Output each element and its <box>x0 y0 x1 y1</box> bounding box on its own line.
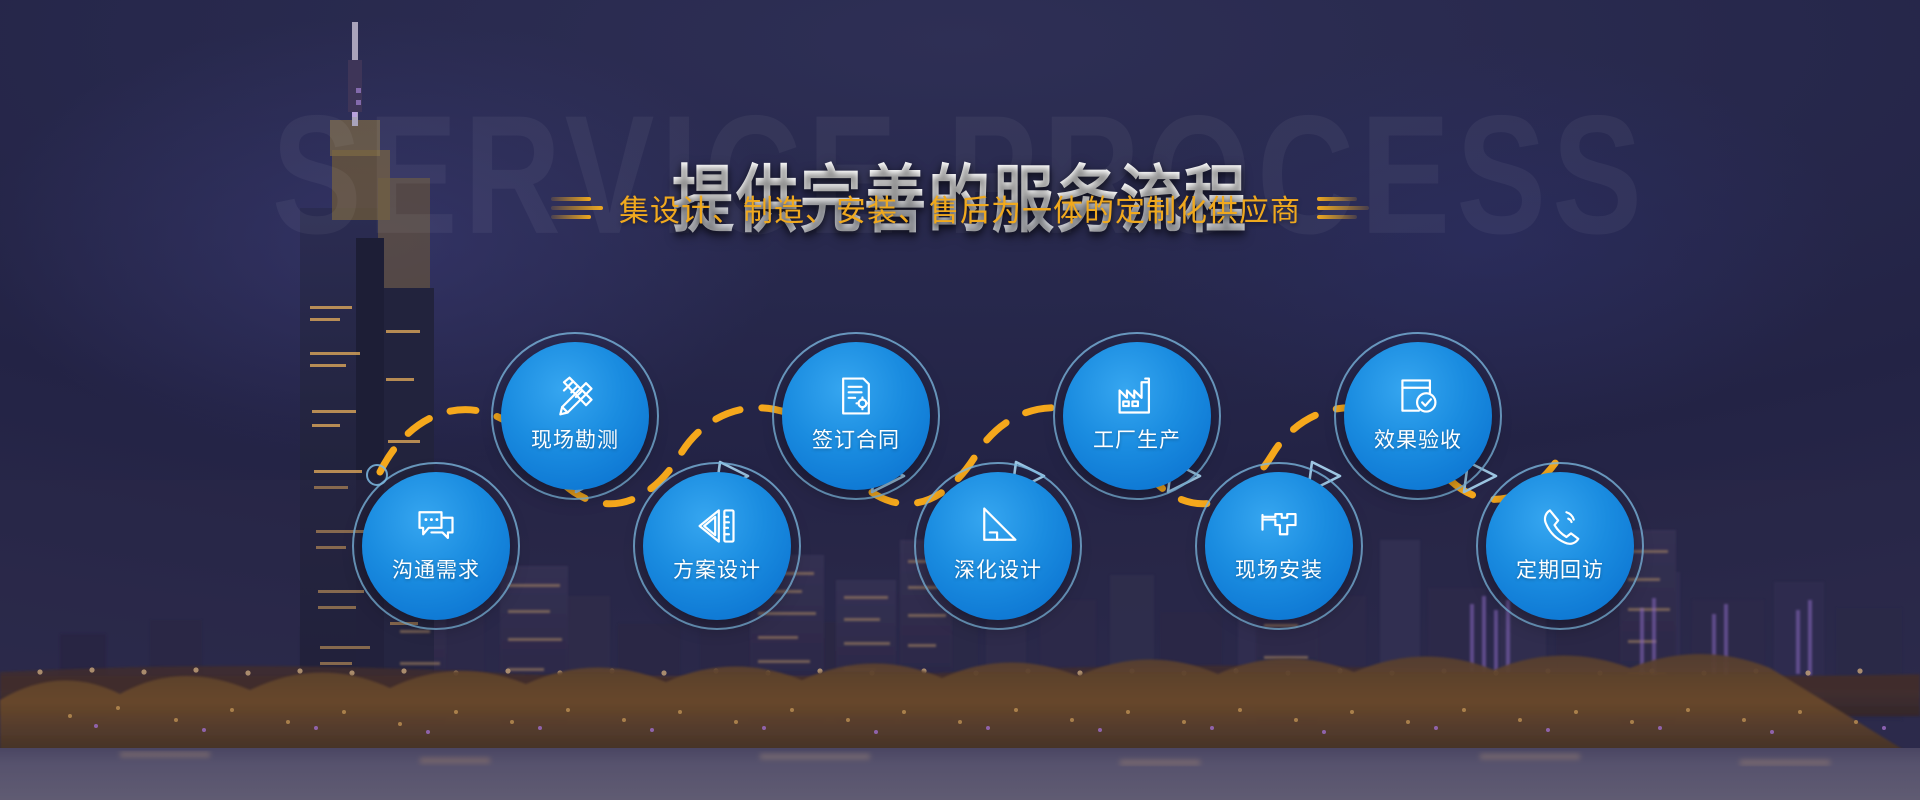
flow-step-3-label: 方案设计 <box>673 554 761 584</box>
flow-step-1-label: 沟通需求 <box>392 554 480 584</box>
flow-step-5-label: 深化设计 <box>954 554 1042 584</box>
service-process-banner: SERVICE PROCESS 提供完善的服务流程 集设计、制造、安装、售后为一… <box>0 0 1920 800</box>
design-ruler-icon <box>695 504 739 548</box>
flow-step-2[interactable]: 现场勘测 <box>501 342 649 490</box>
flow-step-9[interactable]: 定期回访 <box>1486 472 1634 620</box>
flow-step-1[interactable]: 沟通需求 <box>362 472 510 620</box>
flow-step-8[interactable]: 效果验收 <box>1344 342 1492 490</box>
flow-step-6-label: 工厂生产 <box>1093 424 1181 454</box>
flow-step-4-label: 签订合同 <box>812 424 900 454</box>
flow-step-2-label: 现场勘测 <box>531 424 619 454</box>
window-check-icon <box>1396 374 1440 418</box>
flow-path-svg <box>0 0 1920 800</box>
flow-step-9-label: 定期回访 <box>1516 554 1604 584</box>
flow-step-8-label: 效果验收 <box>1374 424 1462 454</box>
power-drill-icon <box>1257 504 1301 548</box>
phone-call-icon <box>1538 504 1582 548</box>
service-process-flow: 沟通需求 现场勘测 <box>0 0 1920 800</box>
flow-step-7-label: 现场安装 <box>1235 554 1323 584</box>
chat-bubble-icon <box>414 504 458 548</box>
flow-step-6[interactable]: 工厂生产 <box>1063 342 1211 490</box>
contract-seal-icon <box>834 374 878 418</box>
ruler-pencil-icon <box>553 374 597 418</box>
flow-step-7[interactable]: 现场安装 <box>1205 472 1353 620</box>
flow-step-3[interactable]: 方案设计 <box>643 472 791 620</box>
flow-step-4[interactable]: 签订合同 <box>782 342 930 490</box>
flow-start-dot-icon <box>366 464 388 486</box>
factory-icon <box>1115 374 1159 418</box>
flow-step-5[interactable]: 深化设计 <box>924 472 1072 620</box>
set-square-icon <box>976 504 1020 548</box>
